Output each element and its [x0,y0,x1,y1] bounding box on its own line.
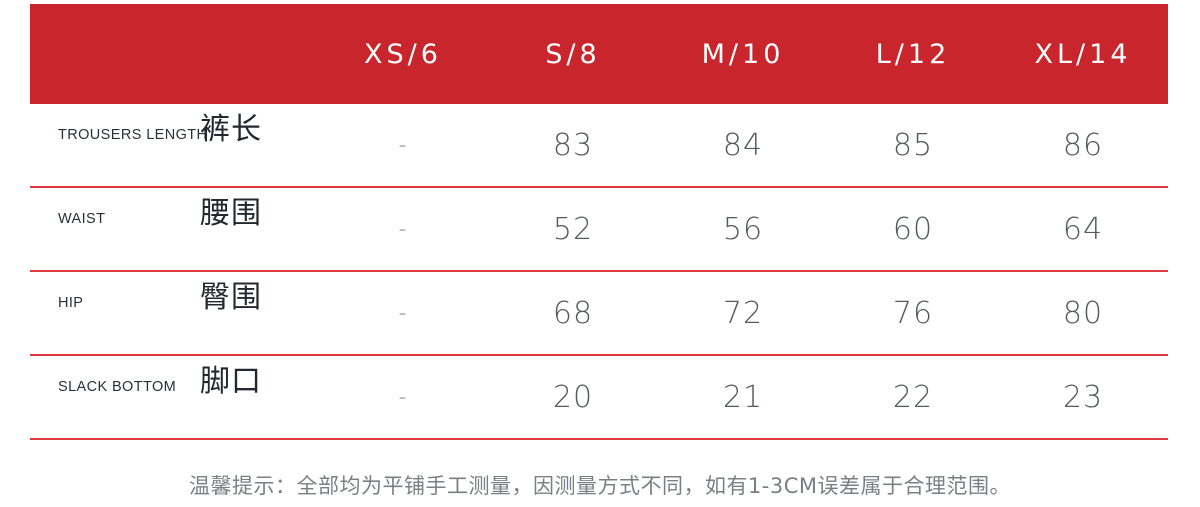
cell-slack-bottom-xl: 23 [998,355,1168,439]
cell-hip-xl: 80 [998,271,1168,355]
table-row: HIP 臀围 - 68 72 76 80 [30,271,1168,355]
cell-trousers-length-xl: 86 [998,104,1168,187]
cell-waist-s: 52 [488,187,658,271]
cell-waist-xl: 64 [998,187,1168,271]
header-corner-cell [30,4,318,104]
row-label-cn: 臀围 [200,272,262,316]
header-size-xs: XS/6 [318,4,488,104]
header-size-s: S/8 [488,4,658,104]
size-table-header: XS/6 S/8 M/10 L/12 XL/14 [30,4,1168,104]
cell-hip-xs: - [318,271,488,355]
cell-slack-bottom-xs: - [318,355,488,439]
row-label-trousers-length: TROUSERS LENGTH 裤长 [30,104,318,187]
size-chart: XS/6 S/8 M/10 L/12 XL/14 TROUSERS LENGTH… [0,0,1200,507]
row-label-cn: 腰围 [200,188,262,232]
header-size-m: M/10 [658,4,828,104]
header-size-l: L/12 [828,4,998,104]
cell-waist-m: 56 [658,187,828,271]
measurement-note: 温馨提示：全部均为平铺手工测量，因测量方式不同，如有1-3CM误差属于合理范围。 [0,470,1200,500]
size-table-body: TROUSERS LENGTH 裤长 - 83 84 85 86 WAIST 腰… [30,104,1168,439]
table-row: WAIST 腰围 - 52 56 60 64 [30,187,1168,271]
row-label-slack-bottom: SLACK BOTTOM 脚口 [30,355,318,439]
row-label-cn: 脚口 [200,356,262,400]
row-label-waist: WAIST 腰围 [30,187,318,271]
cell-hip-m: 72 [658,271,828,355]
table-row: SLACK BOTTOM 脚口 - 20 21 22 23 [30,355,1168,439]
cell-trousers-length-m: 84 [658,104,828,187]
cell-hip-s: 68 [488,271,658,355]
cell-trousers-length-s: 83 [488,104,658,187]
row-label-cn: 裤长 [200,104,262,148]
cell-trousers-length-l: 85 [828,104,998,187]
cell-waist-l: 60 [828,187,998,271]
table-row: TROUSERS LENGTH 裤长 - 83 84 85 86 [30,104,1168,187]
row-label-en: HIP [58,295,193,311]
cell-slack-bottom-l: 22 [828,355,998,439]
row-label-en: WAIST [58,211,193,227]
cell-slack-bottom-m: 21 [658,355,828,439]
cell-slack-bottom-s: 20 [488,355,658,439]
size-table: XS/6 S/8 M/10 L/12 XL/14 TROUSERS LENGTH… [30,4,1168,440]
cell-trousers-length-xs: - [318,104,488,187]
header-row: XS/6 S/8 M/10 L/12 XL/14 [30,4,1168,104]
row-label-en: SLACK BOTTOM [58,379,193,395]
row-label-en: TROUSERS LENGTH [58,127,193,143]
cell-hip-l: 76 [828,271,998,355]
row-label-hip: HIP 臀围 [30,271,318,355]
header-size-xl: XL/14 [998,4,1168,104]
cell-waist-xs: - [318,187,488,271]
